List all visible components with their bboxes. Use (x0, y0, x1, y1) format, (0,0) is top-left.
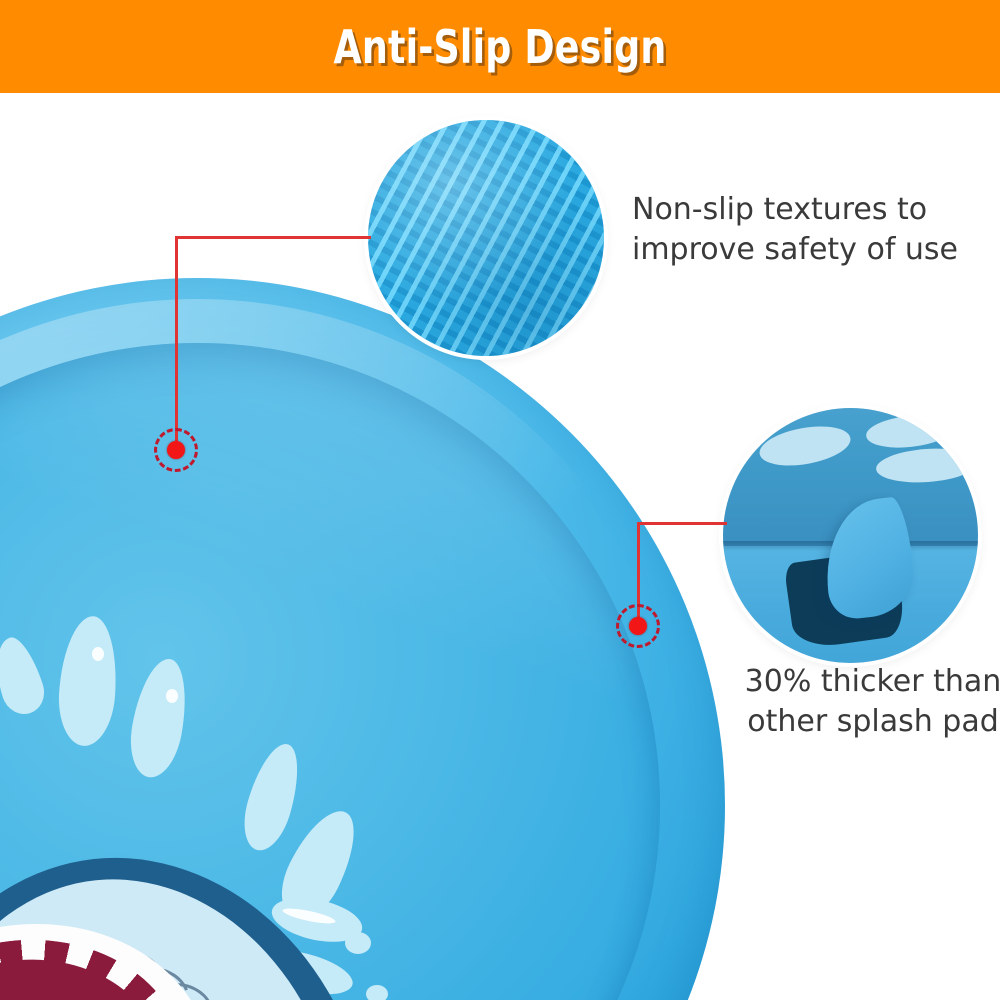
callout-detail-texture (368, 120, 604, 356)
caption-thickness-line2: other splash pad (742, 702, 1000, 742)
caption-texture-line2: improve safety of use (632, 230, 982, 270)
callout-detail-thickness (723, 408, 978, 663)
marker-dot (167, 441, 185, 459)
marker-texture[interactable] (154, 428, 198, 472)
leader-line-texture-vertical (175, 236, 178, 450)
caption-texture: Non-slip textures to improve safety of u… (632, 190, 982, 270)
marker-thickness[interactable] (616, 604, 660, 648)
marker-dot (629, 617, 647, 635)
header-banner: Anti-Slip Design (0, 0, 1000, 93)
caption-thickness-line1: 30% thicker than (742, 662, 1000, 702)
texture-sheen (368, 120, 604, 356)
splash-drop (366, 985, 388, 1000)
caption-texture-line1: Non-slip textures to (632, 190, 982, 230)
infographic-root: Anti-Slip Design (0, 0, 1000, 1000)
leader-line-texture-horizontal (175, 236, 371, 239)
page-title: Anti-Slip Design (60, 0, 940, 93)
caption-thickness: 30% thicker than other splash pad (742, 662, 1000, 742)
leader-line-thickness-horizontal (637, 522, 727, 525)
